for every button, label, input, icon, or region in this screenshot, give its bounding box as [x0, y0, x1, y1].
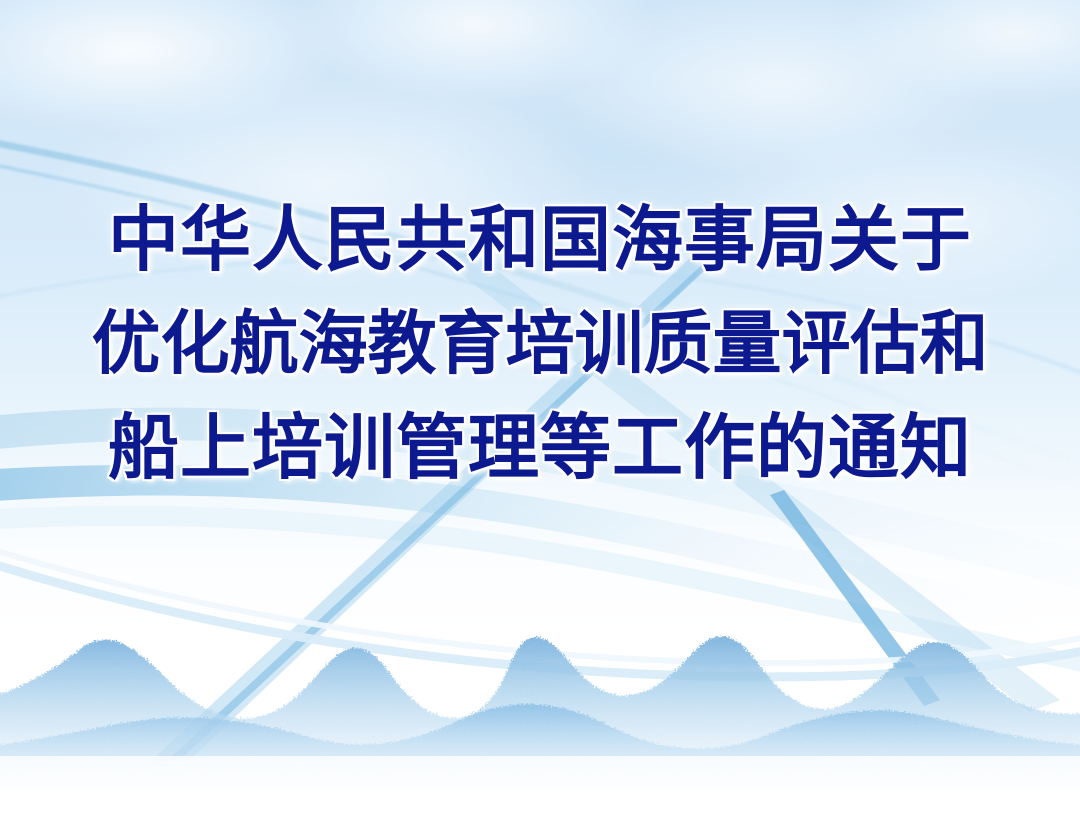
title-line-3: 船上培训管理等工作的通知 — [0, 396, 1080, 500]
title-line-1: 中华人民共和国海事局关于 — [0, 188, 1080, 292]
notice-banner: 中华人民共和国海事局关于 优化航海教育培训质量评估和 船上培训管理等工作的通知 — [0, 0, 1080, 834]
title-line-2: 优化航海教育培训质量评估和 — [0, 292, 1080, 396]
banner-title: 中华人民共和国海事局关于 优化航海教育培训质量评估和 船上培训管理等工作的通知 — [0, 188, 1080, 500]
